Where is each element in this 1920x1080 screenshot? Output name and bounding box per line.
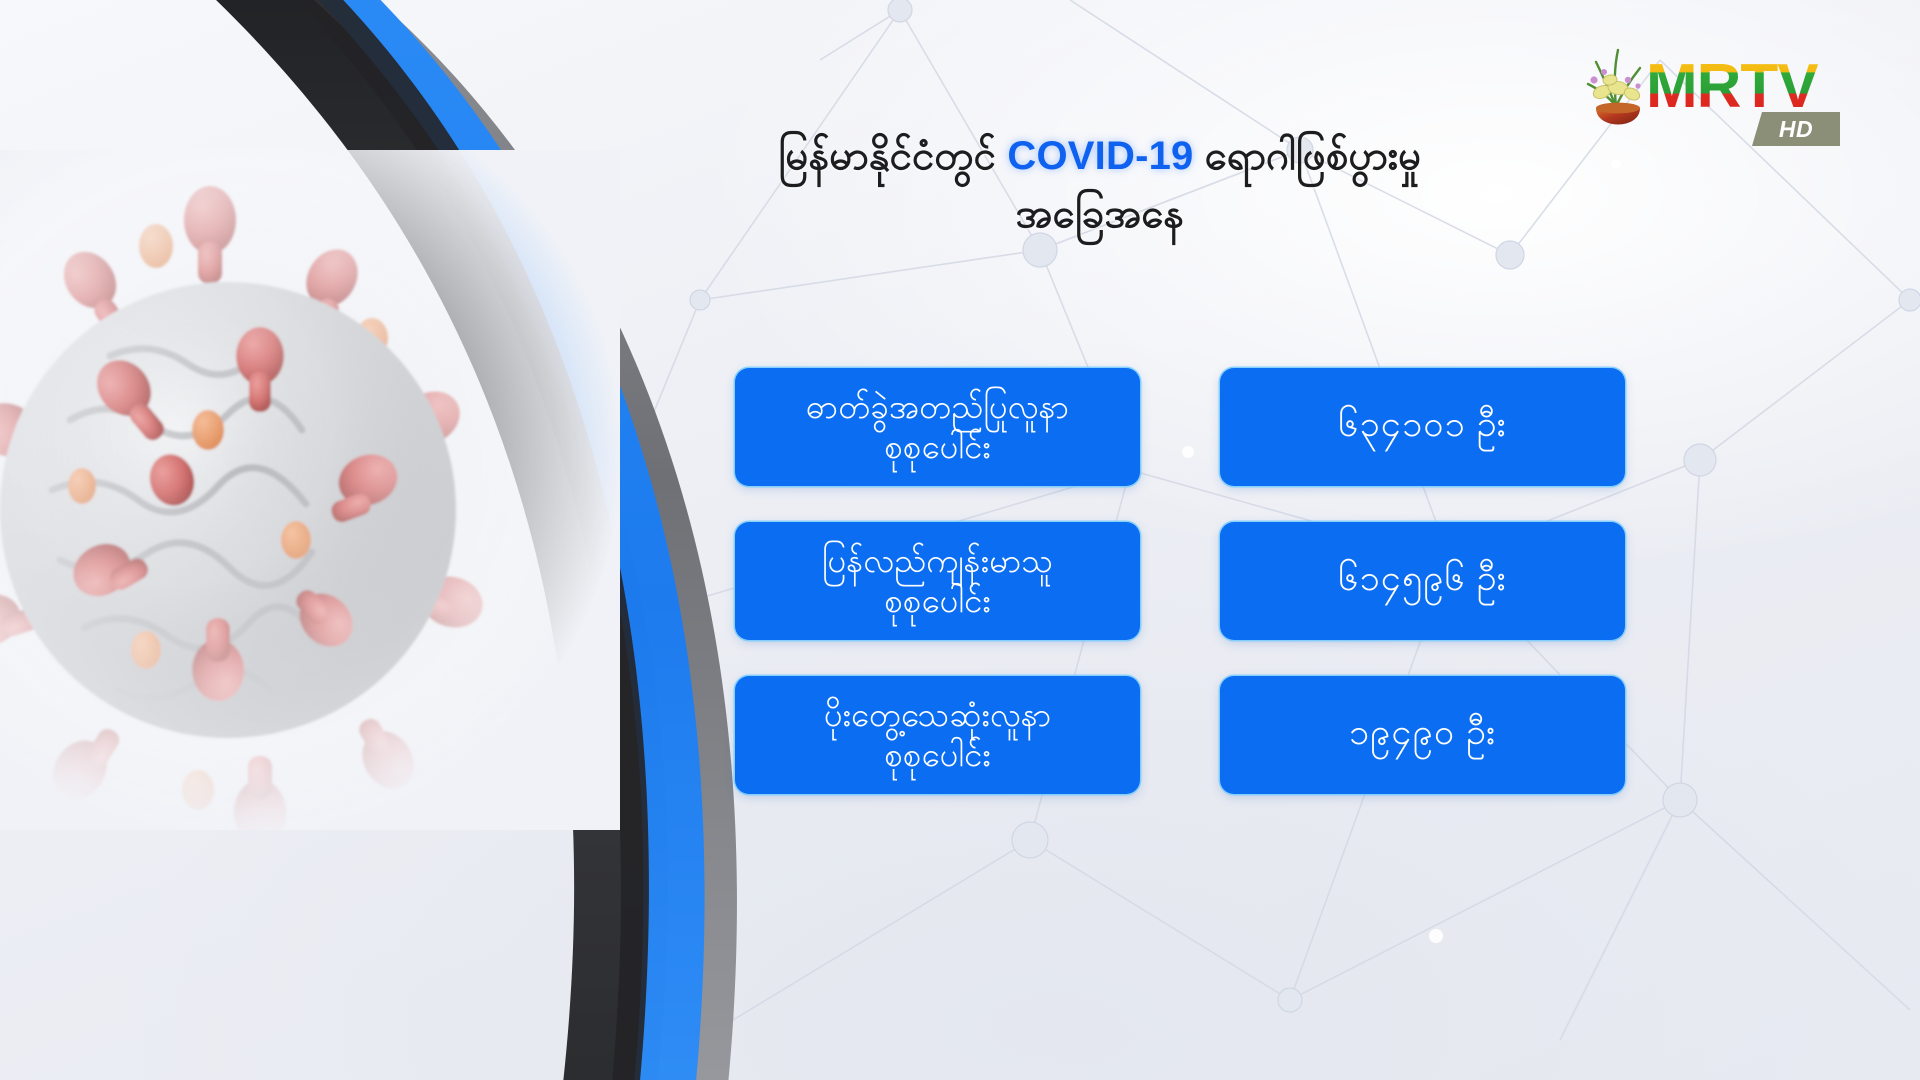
stat-label-confirmed: ဓာတ်ခွဲအတည်ပြုလူနာ စုစုပေါင်း [735, 368, 1140, 486]
broadcast-graphic-stage: မြန်မာနိုင်ငံတွင် COVID-19 ရောဂါဖြစ်ပွား… [0, 0, 1920, 1080]
mrtv-wordmark: MRTV [1646, 56, 1818, 118]
coronavirus-particle-icon [0, 150, 620, 830]
stat-label-confirmed-line2: စုစုပေါင်း [806, 427, 1069, 467]
flower-pot-icon [1584, 46, 1652, 136]
hd-badge: HD [1752, 112, 1840, 146]
stat-value-confirmed: ၆၃၄၁၀၁ ဦး [1220, 368, 1625, 486]
covid-stats-grid: ဓာတ်ခွဲအတည်ပြုလူနာ စုစုပေါင်း ၆၃၄၁၀၁ ဦး … [735, 368, 1625, 794]
title-text-part1: မြန်မာနိုင်ငံတွင် [779, 134, 1008, 178]
stat-value-recovered: ၆၁၄၅၉၆ ဦး [1220, 522, 1625, 640]
stat-label-recovered-line2: စုစုပေါင်း [822, 581, 1054, 621]
stat-label-deaths-line2: စုစုပေါင်း [824, 735, 1052, 775]
stat-label-deaths: ပိုးတွေ့သေဆုံးလူနာ စုစုပေါင်း [735, 676, 1140, 794]
page-title: မြန်မာနိုင်ငံတွင် COVID-19 ရောဂါဖြစ်ပွား… [600, 128, 1600, 243]
stat-value-deaths: ၁၉၄၉၀ ဦး [1220, 676, 1625, 794]
title-covid-highlight: COVID-19 [1007, 134, 1193, 178]
stat-label-confirmed-line1: ဓာတ်ခွဲအတည်ပြုလူနာ [806, 387, 1069, 427]
stat-label-recovered: ပြန်လည်ကျန်းမာသူ စုစုပေါင်း [735, 522, 1140, 640]
title-text-part2: ရောဂါဖြစ်ပွားမှု [1194, 134, 1422, 178]
stat-label-recovered-line1: ပြန်လည်ကျန်းမာသူ [822, 541, 1054, 581]
title-line-2: အခြေအနေ [600, 186, 1600, 244]
stat-label-deaths-line1: ပိုးတွေ့သေဆုံးလူနာ [824, 695, 1052, 735]
mrtv-logo: MRTV HD [1584, 38, 1834, 156]
